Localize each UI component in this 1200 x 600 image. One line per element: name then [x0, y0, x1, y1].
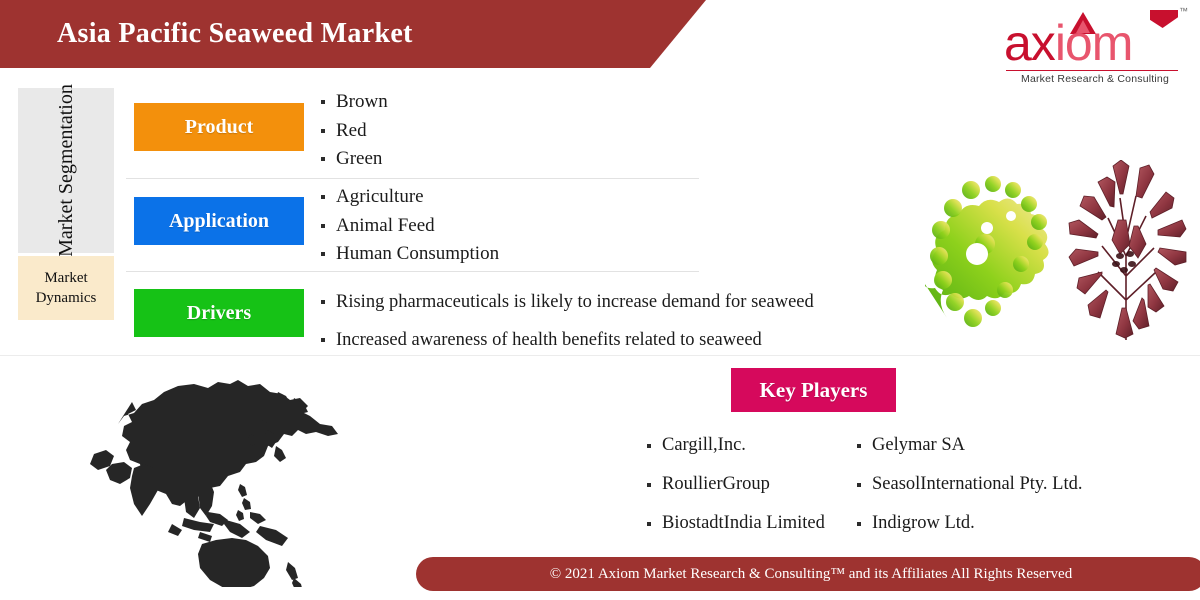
- list-item: Increased awareness of health benefits r…: [320, 321, 814, 359]
- divider-product-application: [126, 178, 699, 179]
- market-dynamics-line2: Dynamics: [36, 290, 97, 306]
- list-item: Rising pharmaceuticals is likely to incr…: [320, 283, 814, 321]
- logo-flag-icon: [1150, 10, 1178, 28]
- logo-word-i: i: [1055, 15, 1065, 71]
- list-drivers-items: Rising pharmaceuticals is likely to incr…: [320, 283, 814, 359]
- logo-wordmark: axiom: [1004, 18, 1132, 68]
- asia-pacific-map: [72, 372, 342, 587]
- infographic-page: Asia Pacific Seaweed Market ™ axiom Mark…: [0, 0, 1200, 600]
- axiom-logo: ™ axiom Market Research & Consulting: [992, 4, 1192, 96]
- divider-application-drivers: [126, 271, 699, 272]
- logo-rule: [1006, 70, 1178, 71]
- logo-trademark: ™: [1179, 6, 1188, 16]
- market-dynamics-text: MarketDynamics: [36, 268, 97, 308]
- logo-word-om: om: [1065, 15, 1132, 71]
- key-players-column-left: Cargill,Inc. RoullierGroup BiostadtIndia…: [645, 426, 825, 543]
- list-item: Cargill,Inc.: [645, 426, 825, 465]
- logo-word-ax: ax: [1004, 15, 1055, 71]
- market-dynamics-line1: Market: [44, 270, 87, 286]
- list-product-items: Brown Red Green: [320, 88, 388, 174]
- key-players-badge: Key Players: [731, 368, 896, 412]
- list-item: Gelymar SA: [855, 426, 1082, 465]
- list-item: RoullierGroup: [645, 465, 825, 504]
- red-seaweed-illustration: [1058, 160, 1193, 342]
- list-item: Animal Feed: [320, 212, 499, 241]
- list-item: Human Consumption: [320, 240, 499, 269]
- market-segmentation-label: Market Segmentation: [18, 88, 114, 253]
- green-seaweed-illustration: [925, 168, 1060, 338]
- list-item: SeasolInternational Pty. Ltd.: [855, 465, 1082, 504]
- list-item: Indigrow Ltd.: [855, 504, 1082, 543]
- key-players-column-right: Gelymar SA SeasolInternational Pty. Ltd.…: [855, 426, 1082, 543]
- list-item: BiostadtIndia Limited: [645, 504, 825, 543]
- page-title: Asia Pacific Seaweed Market: [57, 18, 413, 50]
- list-application-items: Agriculture Animal Feed Human Consumptio…: [320, 183, 499, 269]
- market-segmentation-text: Market Segmentation: [54, 84, 79, 257]
- chip-product[interactable]: Product: [134, 103, 304, 151]
- list-item: Red: [320, 117, 388, 146]
- chip-drivers[interactable]: Drivers: [134, 289, 304, 337]
- footer-copyright: © 2021 Axiom Market Research & Consultin…: [416, 557, 1200, 591]
- list-item: Green: [320, 145, 388, 174]
- list-item: Agriculture: [320, 183, 499, 212]
- market-dynamics-label: MarketDynamics: [18, 256, 114, 320]
- list-item: Brown: [320, 88, 388, 117]
- chip-application[interactable]: Application: [134, 197, 304, 245]
- logo-tagline: Market Research & Consulting: [1006, 73, 1184, 85]
